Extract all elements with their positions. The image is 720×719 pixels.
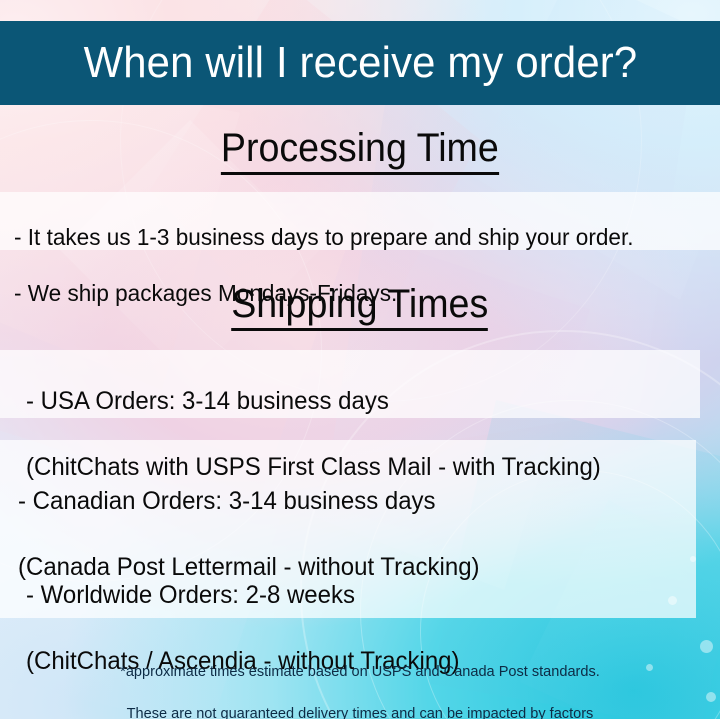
- worldwide-orders-line-1: - Worldwide Orders: 2-8 weeks: [26, 579, 460, 612]
- section-heading-processing: Processing Time: [0, 126, 720, 175]
- usa-orders-line-1: - USA Orders: 3-14 business days: [26, 385, 601, 418]
- section-heading-shipping: Shipping Times: [0, 282, 720, 331]
- section-heading-processing-label: Processing Time: [221, 126, 499, 175]
- processing-line-1: - It takes us 1-3 business days to prepa…: [14, 223, 634, 251]
- footnote-line-2: These are not guaranteed delivery times …: [11, 703, 709, 719]
- title-banner: When will I receive my order?: [0, 21, 720, 105]
- canadian-orders-line-1: - Canadian Orders: 3-14 business days: [18, 485, 480, 518]
- page-title: When will I receive my order?: [83, 38, 637, 88]
- disclaimer-footnote: *approximate times estimate based on USP…: [0, 640, 720, 719]
- section-heading-shipping-label: Shipping Times: [231, 282, 488, 331]
- shipping-info-poster: When will I receive my order? Processing…: [0, 0, 720, 719]
- footnote-line-1: *approximate times estimate based on USP…: [11, 661, 709, 682]
